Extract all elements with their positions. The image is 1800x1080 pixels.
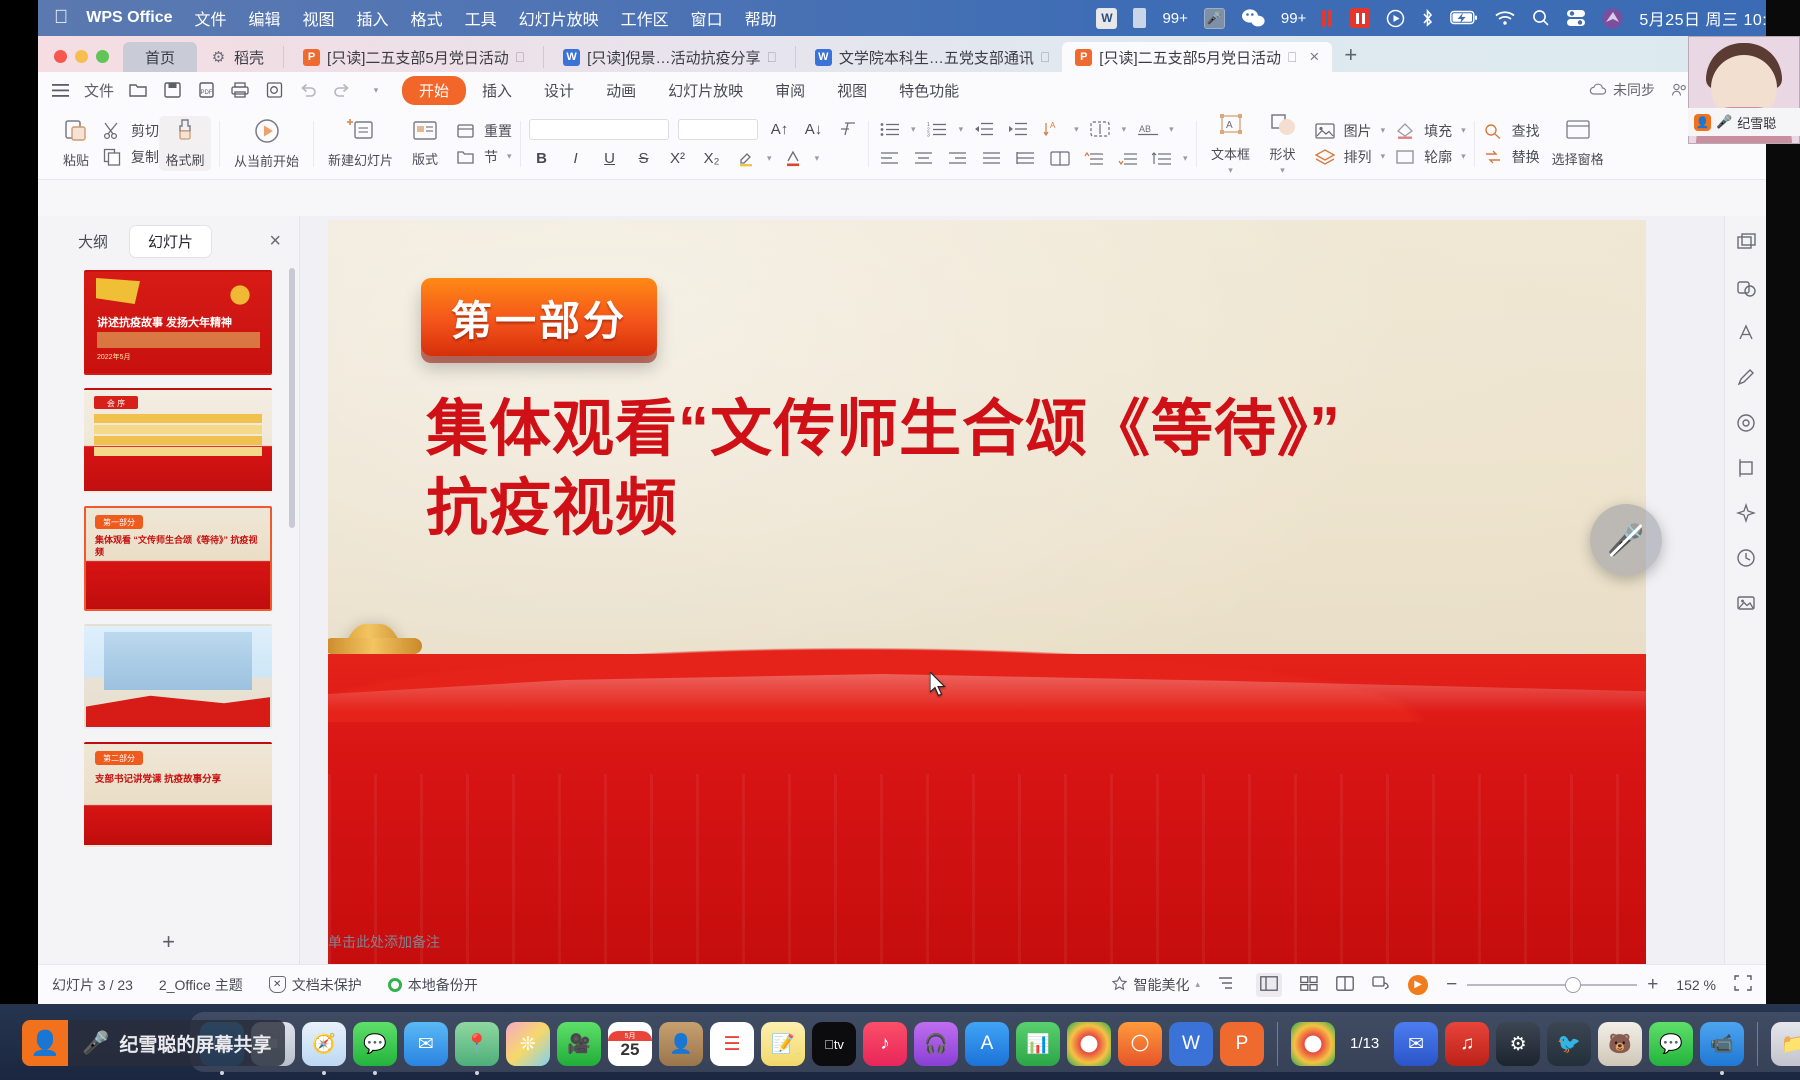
powerpoint-file-icon: P	[1075, 49, 1092, 66]
tab-document-2[interactable]: W [只读]倪景…活动抗疫分享 ⎕	[550, 42, 789, 72]
find-button[interactable]: 查找	[1483, 121, 1540, 141]
zoom-value-label: 152 %	[1676, 977, 1716, 993]
slide-count-label: 幻灯片 3 / 23	[52, 975, 133, 995]
status-bar: 幻灯片 3 / 23 2_Office 主题 ✕ 文档未保护 本地备份开 智能美…	[38, 964, 1766, 1004]
bullet-list-button[interactable]	[877, 118, 902, 141]
menu-item-view[interactable]: 视图	[303, 6, 335, 30]
print-icon[interactable]	[230, 80, 250, 100]
section-label: 节	[484, 147, 498, 167]
replace-label: 替换	[1512, 147, 1540, 167]
align-right-button[interactable]	[945, 147, 970, 170]
paste-icon	[63, 118, 89, 148]
zoom-track[interactable]	[1467, 984, 1637, 986]
backup-status[interactable]: 本地备份开	[388, 975, 478, 995]
slideshow-group: 从当前开始	[220, 108, 313, 179]
slide-navigator-header: 大纲 幻灯片 ×	[38, 216, 299, 263]
green-dot-icon	[388, 978, 402, 992]
undo-icon[interactable]	[298, 80, 318, 100]
fill-icon	[1395, 121, 1415, 141]
ribbon-tab-start[interactable]: 开始	[402, 76, 466, 105]
menu-item-tools[interactable]: 工具	[465, 6, 497, 30]
align-center-button[interactable]	[911, 147, 936, 170]
tab-docer[interactable]: ⚙ 稻壳	[197, 42, 277, 72]
outline-icon	[1395, 147, 1415, 167]
notes-icon[interactable]: 📝	[761, 1022, 805, 1066]
ribbon-file-menu[interactable]: 文件	[84, 80, 114, 101]
thumbnail-scrollbar[interactable]	[289, 268, 295, 528]
window-traffic-lights[interactable]	[48, 50, 123, 72]
tencent-meeting-icon[interactable]: 📹	[1700, 1022, 1744, 1066]
numbers-icon[interactable]: 📊	[1016, 1022, 1060, 1066]
download-tray-icon[interactable]	[1133, 8, 1146, 28]
writer-file-icon: W	[563, 49, 580, 66]
presenter-avatar-icon: 👤	[1694, 114, 1711, 131]
duplicate-icon[interactable]	[1733, 230, 1759, 256]
cloud-icon	[1589, 83, 1607, 97]
chevron-down-icon[interactable]: ▾	[1461, 151, 1466, 162]
cut-button[interactable]: 剪切	[102, 121, 159, 141]
menu-item-format[interactable]: 格式	[411, 6, 443, 30]
beautify-button[interactable]: 智能美化 ▴	[1111, 975, 1201, 995]
menu-item-slideshow[interactable]: 幻灯片放映	[519, 6, 599, 30]
facetime-icon[interactable]: 🎥	[557, 1022, 601, 1066]
increase-spacing-button[interactable]	[1115, 147, 1140, 170]
microphone-icon[interactable]: 🎤	[68, 1030, 119, 1056]
play-slideshow-button[interactable]: ▶	[1408, 975, 1428, 995]
macos-dock-area: 😀 ■ 🧭 💬 ✉ 📍 ❊ 🎥 5月 25 👤 ☰ 📝 tv ♪ 🎧 A 📊 …	[0, 1004, 1800, 1080]
new-tab-button[interactable]: +	[1332, 42, 1369, 72]
hamburger-icon[interactable]	[50, 80, 70, 100]
outline-label: 轮廓	[1424, 147, 1452, 167]
svg-text:A: A	[1226, 120, 1233, 131]
chrome-icon[interactable]	[1291, 1022, 1335, 1066]
line-spacing-button[interactable]	[1088, 118, 1113, 141]
apple-tv-icon[interactable]: tv	[812, 1022, 856, 1066]
chevron-down-icon[interactable]: ▾	[1183, 153, 1188, 164]
chevron-down-icon[interactable]: ▾	[1122, 124, 1127, 135]
netease-icon[interactable]: ♫	[1445, 1022, 1489, 1066]
tab-divider	[795, 46, 796, 68]
tab-monitor-icon[interactable]: ⎕	[767, 49, 775, 66]
mail-icon[interactable]: ✉	[404, 1022, 448, 1066]
distribute-button[interactable]	[1013, 147, 1038, 170]
new-slide-label: 新建幻灯片	[328, 150, 393, 169]
fill-label: 填充	[1424, 121, 1452, 141]
paste-label: 粘贴	[63, 150, 89, 169]
decrease-spacing-button[interactable]	[1081, 147, 1106, 170]
italic-button[interactable]: I	[563, 147, 588, 170]
dock-page-indicator: 1/13	[1342, 1035, 1387, 1066]
notes-pane[interactable]: 单击此处添加备注	[300, 920, 1724, 964]
menu-item-window[interactable]: 窗口	[691, 6, 723, 30]
slide-title[interactable]: 集体观看“文传师生合颂《等待》” 抗疫视频	[426, 390, 1556, 549]
wechat-icon[interactable]	[1241, 8, 1265, 28]
tab-document-4-active[interactable]: P [只读]二五支部5月党日活动 ⎕ ×	[1062, 42, 1332, 72]
layout-button[interactable]: 版式	[399, 117, 451, 170]
dock-separator	[1277, 1022, 1278, 1066]
files-icon[interactable]: 📁	[1771, 1022, 1800, 1066]
tab-monitor-icon[interactable]: ⎕	[516, 49, 524, 66]
insert-group: A 文本框 ▾ 形状 ▾ 图	[1197, 108, 1474, 179]
presenter-view-icon[interactable]	[1372, 975, 1390, 994]
save-icon[interactable]	[162, 80, 182, 100]
contacts-icon[interactable]: 👤	[659, 1022, 703, 1066]
edit-pen-icon[interactable]	[1733, 365, 1759, 391]
document-tab-strip: 首页 ⚙ 稻壳 P [只读]二五支部5月党日活动 ⎕ W [只读]倪景…活动抗疫…	[38, 36, 1766, 72]
writer-file-icon: W	[815, 49, 832, 66]
slide-canvas[interactable]: 第一部分 集体观看“文传师生合颂《等待》” 抗疫视频	[328, 220, 1646, 964]
new-slide-icon	[347, 118, 375, 148]
macos-menu-bar:  WPS Office 文件 编辑 视图 插入 格式 工具 幻灯片放映 工作区…	[38, 0, 1800, 36]
music-icon[interactable]: ♪	[863, 1022, 907, 1066]
redo-icon[interactable]	[332, 80, 352, 100]
text-effects-icon[interactable]	[1733, 320, 1759, 346]
line-height-button[interactable]	[1149, 147, 1174, 170]
dock-separator	[1757, 1022, 1758, 1066]
customize-caret-icon[interactable]: ▾	[366, 80, 386, 100]
normal-view-icon[interactable]	[1256, 973, 1282, 997]
close-window-button[interactable]	[54, 50, 67, 63]
picture-icon	[1315, 121, 1335, 141]
tab-slides[interactable]: 幻灯片	[130, 226, 211, 257]
ribbon-tab-row: 文件 PDF	[38, 72, 1766, 108]
sort-button[interactable]: A	[1040, 118, 1065, 141]
section-icon	[455, 147, 475, 167]
svg-text:PDF: PDF	[200, 90, 212, 96]
tab-document-1-label: [只读]二五支部5月党日活动	[327, 47, 509, 68]
screen-left-bezel	[0, 0, 38, 1080]
shapes-icon[interactable]	[1733, 275, 1759, 301]
grow-font-button[interactable]: A↑	[767, 118, 792, 141]
chevron-down-icon[interactable]: ▾	[815, 153, 820, 164]
search-icon	[1483, 121, 1503, 141]
tab-divider	[543, 46, 544, 68]
screen-record-icon[interactable]	[1386, 9, 1405, 28]
wps-tray-icon[interactable]: W	[1096, 8, 1117, 29]
target-icon[interactable]	[1733, 410, 1759, 436]
from-current-label: 从当前开始	[234, 151, 299, 170]
photos-dock-icon[interactable]: ❊	[506, 1022, 550, 1066]
spotlight-search-icon[interactable]	[1532, 9, 1550, 27]
increase-indent-button[interactable]	[1006, 118, 1031, 141]
maximize-window-button[interactable]	[96, 50, 109, 63]
chevron-down-icon[interactable]: ▾	[1381, 151, 1386, 162]
ribbon-tab-insert[interactable]: 插入	[466, 77, 528, 104]
ribbon-tab-special[interactable]: 特色功能	[883, 77, 975, 104]
ribbon-tab-slideshow[interactable]: 幻灯片放映	[652, 77, 759, 104]
powerpoint-file-icon: P	[303, 49, 320, 66]
font-group: A↑ A↓ B I U S X² X₂	[521, 108, 868, 179]
format-painter-label: 格式刷	[165, 150, 204, 169]
chevron-down-icon[interactable]: ▾	[1280, 165, 1285, 176]
shape-button[interactable]: 形状 ▾	[1257, 110, 1309, 178]
ribbon-tab-animation[interactable]: 动画	[590, 77, 652, 104]
calendar-icon[interactable]: 5月 25	[608, 1022, 652, 1066]
shield-icon: ✕	[269, 976, 286, 993]
presenter-mic-icon[interactable]: 🎤	[1716, 114, 1732, 130]
menu-item-help[interactable]: 帮助	[745, 6, 777, 30]
tab-divider	[283, 46, 284, 68]
outline-view-icon[interactable]	[1218, 975, 1238, 994]
numbered-list-button[interactable]: 123	[925, 118, 950, 141]
clipboard-group: 粘贴 剪切 复制	[42, 108, 219, 179]
select-pane-button[interactable]: 选择窗格	[1546, 117, 1610, 170]
reset-button[interactable]: 重置	[455, 121, 512, 141]
ribbon-toolbar: 粘贴 剪切 复制	[38, 108, 1766, 180]
safari-dock-icon[interactable]: 🧭	[302, 1022, 346, 1066]
decrease-indent-button[interactable]	[972, 118, 997, 141]
slide-thumbnail-list[interactable]: 讲述抗疫故事 发扬大年精神 2022年5月 会 序 第一部分	[38, 264, 299, 916]
steam-icon[interactable]: ⚙	[1496, 1022, 1540, 1066]
floating-mic-button[interactable]: 🎤	[1590, 504, 1662, 576]
menu-clock[interactable]: 5月25日 周三 10:31	[1639, 6, 1786, 30]
screen-root:  WPS Office 文件 编辑 视图 插入 格式 工具 幻灯片放映 工作区…	[0, 0, 1800, 1080]
paragraph-column: ▾ 123 ▾ A ▾	[877, 118, 1188, 170]
tab-home[interactable]: 首页	[123, 42, 197, 72]
section-button[interactable]: 节 ▾	[455, 147, 512, 167]
reset-label: 重置	[484, 121, 512, 141]
slide-thumbnail-1[interactable]: 讲述抗疫故事 发扬大年精神 2022年5月	[84, 270, 272, 375]
replace-button[interactable]: 替换	[1483, 147, 1540, 167]
format-painter-button[interactable]: 格式刷	[159, 116, 211, 171]
chevron-down-icon[interactable]: ▾	[507, 151, 512, 162]
text-box-icon: A	[1217, 112, 1245, 142]
slide-thumbnail-3[interactable]: 第一部分 集体观看 “文传师生合颂《等待》” 抗疫视频	[84, 506, 272, 611]
font-name-input[interactable]	[529, 119, 669, 140]
copy-icon	[102, 147, 122, 167]
cut-label: 剪切	[131, 121, 159, 141]
clear-format-icon[interactable]	[835, 118, 860, 141]
font-size-input[interactable]	[678, 119, 758, 140]
strikethrough-button[interactable]: S	[631, 147, 656, 170]
copy-label: 复制	[131, 147, 159, 167]
quick-access-toolbar: 文件 PDF	[50, 80, 386, 101]
status-bar-right: 智能美化 ▴ ▶	[1111, 973, 1752, 997]
main-area: 大纲 幻灯片 × 讲述抗疫故事 发扬大年精神 2022年5月 会 序	[38, 216, 1766, 964]
calendar-day: 25	[621, 1041, 640, 1058]
slide-thumbnail-2[interactable]: 会 序	[84, 388, 272, 493]
control-center-icon[interactable]	[1566, 9, 1586, 27]
notes-placeholder: 单击此处添加备注	[328, 932, 440, 952]
bear-icon[interactable]: 🐻	[1598, 1022, 1642, 1066]
messages-icon[interactable]: 💬	[353, 1022, 397, 1066]
section-badge[interactable]: 第一部分	[421, 278, 657, 356]
add-slide-plus: +	[162, 929, 175, 955]
section-badge-label: 第一部分	[451, 287, 627, 347]
format-painter-icon	[173, 118, 197, 148]
menu-item-file[interactable]: 文件	[194, 6, 226, 30]
person-icon[interactable]: 👤	[22, 1020, 68, 1066]
wechat-dock-icon[interactable]: 💬	[1649, 1022, 1693, 1066]
open-folder-icon[interactable]	[128, 80, 148, 100]
bluetooth-icon[interactable]	[1421, 9, 1434, 28]
feishu-icon[interactable]: ✉	[1394, 1022, 1438, 1066]
export-pdf-icon[interactable]: PDF	[196, 80, 216, 100]
copy-button[interactable]: 复制	[102, 147, 159, 167]
zoom-out-button[interactable]: −	[1446, 974, 1457, 996]
text-direction-button[interactable]: AB	[1135, 118, 1160, 141]
menu-item-workspace[interactable]: 工作区	[621, 6, 669, 30]
chevron-down-icon[interactable]: ▾	[1074, 124, 1079, 135]
play-circle-icon	[253, 117, 281, 149]
appstore-icon[interactable]: A	[965, 1022, 1009, 1066]
svg-text:AB: AB	[1139, 124, 1151, 134]
tab-monitor-icon[interactable]: ⎕	[1041, 49, 1049, 66]
outline-button[interactable]: 轮廓 ▾	[1395, 147, 1466, 167]
docer-icon: ⚙	[210, 49, 227, 66]
shape-label: 形状	[1270, 144, 1296, 163]
close-panel-icon[interactable]: ×	[269, 230, 289, 253]
macos-dock: 😀 ■ 🧭 💬 ✉ 📍 ❊ 🎥 5月 25 👤 ☰ 📝 tv ♪ 🎧 A 📊 …	[190, 1012, 1800, 1072]
chevron-down-icon[interactable]: ▾	[1228, 165, 1233, 176]
screen-share-bar[interactable]: 👤 🎤 纪雪聪的屏幕共享	[22, 1020, 285, 1066]
editing-group: 查找 替换 选择窗格	[1475, 108, 1618, 179]
fit-to-window-icon[interactable]	[1734, 975, 1752, 994]
tab-outline[interactable]: 大纲	[60, 226, 126, 257]
minimize-window-button[interactable]	[75, 50, 88, 63]
chevron-down-icon[interactable]: ▾	[1169, 124, 1174, 135]
scissors-icon	[102, 121, 122, 141]
slide-title-line1: 集体观看“文传师生合颂《等待》”	[426, 390, 1556, 469]
protection-status[interactable]: ✕ 文档未保护	[269, 975, 362, 995]
firefox-icon[interactable]: 🌕	[1118, 1022, 1162, 1066]
superscript-button[interactable]: X²	[665, 147, 690, 170]
columns-button[interactable]	[1047, 147, 1072, 170]
mic-tray-icon[interactable]: 🎤	[1204, 8, 1225, 29]
font-row-top: A↑ A↓	[529, 118, 860, 141]
tab-document-4-label: [只读]二五支部5月党日活动	[1099, 47, 1281, 68]
pause-bars-icon[interactable]	[1322, 10, 1334, 27]
picture-button[interactable]: 图片 ▾	[1315, 121, 1386, 141]
chrome-alt-icon[interactable]	[1067, 1022, 1111, 1066]
highlight-icon[interactable]	[733, 147, 758, 170]
tab-document-3-label: 文学院本科生…五党支部通讯	[839, 47, 1034, 68]
beautify-label: 智能美化	[1134, 975, 1190, 995]
from-current-button[interactable]: 从当前开始	[228, 115, 305, 172]
font-color-icon[interactable]	[781, 147, 806, 170]
shrink-font-button[interactable]: A↓	[801, 118, 826, 141]
screen-right-bezel	[1766, 0, 1800, 1004]
user-avatar-icon[interactable]	[1602, 8, 1623, 29]
layout-label: 版式	[412, 149, 438, 168]
crop-icon[interactable]	[1733, 455, 1759, 481]
chevron-down-icon[interactable]: ▾	[767, 153, 772, 164]
menu-app-name[interactable]: WPS Office	[86, 9, 172, 27]
ribbon-tab-review[interactable]: 审阅	[759, 77, 821, 104]
print-preview-icon[interactable]	[264, 80, 284, 100]
wps-ppt-icon[interactable]: P	[1220, 1022, 1264, 1066]
arrange-icon	[1315, 147, 1335, 167]
paste-button[interactable]: 粘贴	[50, 116, 102, 171]
slides-group: 新建幻灯片 版式 重置	[314, 108, 520, 179]
slide-sorter-icon[interactable]	[1300, 976, 1318, 994]
backup-label: 本地备份开	[408, 975, 478, 995]
paragraph-group: ▾ 123 ▾ A ▾	[869, 108, 1196, 179]
bold-button[interactable]: B	[529, 147, 554, 170]
wave-highlight	[328, 672, 1646, 712]
battery-icon[interactable]	[1450, 10, 1478, 26]
qq-icon[interactable]: 🐦	[1547, 1022, 1591, 1066]
people-icon	[1671, 83, 1688, 97]
sparkle-icon[interactable]	[1733, 500, 1759, 526]
sync-status[interactable]: 未同步	[1589, 80, 1655, 100]
text-box-label: 文本框	[1211, 144, 1250, 163]
arrange-button[interactable]: 排列 ▾	[1315, 147, 1386, 167]
slide-thumbnail-5[interactable]: 第二部分 支部书记讲党课 抗疫故事分享	[84, 742, 272, 847]
slide-navigator-panel: 大纲 幻灯片 × 讲述抗疫故事 发扬大年精神 2022年5月 会 序	[38, 216, 300, 964]
history-icon[interactable]	[1733, 545, 1759, 571]
slide-thumbnail-4[interactable]	[84, 624, 272, 729]
subscript-button[interactable]: X₂	[699, 147, 724, 170]
select-pane-label: 选择窗格	[1552, 149, 1604, 168]
wechat-count: 99+	[1281, 10, 1306, 27]
wifi-icon[interactable]	[1494, 10, 1516, 26]
zoom-knob[interactable]	[1565, 977, 1581, 993]
zoom-in-button[interactable]: +	[1647, 974, 1658, 996]
slide-canvas-area: 第一部分 集体观看“文传师生合颂《等待》” 抗疫视频 🎤	[300, 216, 1724, 964]
recording-pause-icon[interactable]	[1350, 8, 1370, 28]
picture-arrange-column: 图片 ▾ 排列 ▾	[1315, 121, 1386, 167]
align-left-button[interactable]	[877, 147, 902, 170]
slide-title-line2: 抗疫视频	[426, 469, 1556, 548]
tab-monitor-icon[interactable]: ⎕	[1288, 49, 1296, 66]
wps-writer-icon[interactable]: W	[1169, 1022, 1213, 1066]
new-slide-button[interactable]: 新建幻灯片	[322, 116, 399, 171]
font-row-bottom: B I U S X² X₂ ▾ ▾	[529, 147, 860, 170]
underline-button[interactable]: U	[597, 147, 622, 170]
podcasts-icon[interactable]: 🎧	[914, 1022, 958, 1066]
tab-close-icon[interactable]: ×	[1309, 47, 1319, 67]
beautify-icon	[1111, 976, 1128, 993]
fill-button[interactable]: 填充 ▾	[1395, 121, 1466, 141]
maps-icon[interactable]: 📍	[455, 1022, 499, 1066]
chevron-down-icon[interactable]: ▾	[1381, 125, 1386, 136]
add-slide-button[interactable]: +	[38, 920, 299, 964]
chevron-down-icon[interactable]: ▾	[1461, 125, 1466, 136]
apple-logo-icon[interactable]: 	[54, 7, 68, 29]
reading-view-icon[interactable]	[1336, 976, 1354, 994]
layout-icon	[412, 119, 438, 147]
tab-document-1[interactable]: P [只读]二五支部5月党日活动 ⎕	[290, 42, 537, 72]
menu-item-edit[interactable]: 编辑	[249, 6, 281, 30]
select-pane-icon	[1565, 119, 1591, 147]
paragraph-row-top: ▾ 123 ▾ A ▾	[877, 118, 1188, 141]
share-status-text: 纪雪聪的屏幕共享	[119, 1030, 271, 1057]
find-replace-column: 查找 替换	[1483, 121, 1540, 167]
zoom-slider[interactable]: − +	[1446, 974, 1658, 996]
ribbon-tab-view[interactable]: 视图	[821, 77, 883, 104]
reminders-icon[interactable]: ☰	[710, 1022, 754, 1066]
webcam-name-bar: 👤 🎤 纪雪聪	[1688, 108, 1800, 136]
image-icon[interactable]	[1733, 590, 1759, 616]
menu-item-insert[interactable]: 插入	[357, 6, 389, 30]
find-label: 查找	[1512, 121, 1540, 141]
chevron-down-icon[interactable]: ▾	[911, 124, 916, 135]
justify-button[interactable]	[979, 147, 1004, 170]
right-tool-rail	[1724, 216, 1766, 964]
reset-section-column: 重置 节 ▾	[455, 121, 512, 167]
cut-copy-column: 剪切 复制	[102, 121, 159, 167]
theme-label[interactable]: 2_Office 主题	[159, 975, 243, 995]
tab-document-3[interactable]: W 文学院本科生…五党支部通讯 ⎕	[802, 42, 1062, 72]
chevron-up-icon[interactable]: ▴	[1196, 979, 1201, 990]
ribbon-tab-design[interactable]: 设计	[528, 77, 590, 104]
text-box-button[interactable]: A 文本框 ▾	[1205, 110, 1257, 178]
chevron-down-icon[interactable]: ▾	[959, 124, 964, 135]
notification-count: 99+	[1162, 10, 1187, 27]
replace-icon	[1483, 147, 1503, 167]
menu-bar-status-area: W 99+ 🎤 99+	[1096, 6, 1800, 30]
